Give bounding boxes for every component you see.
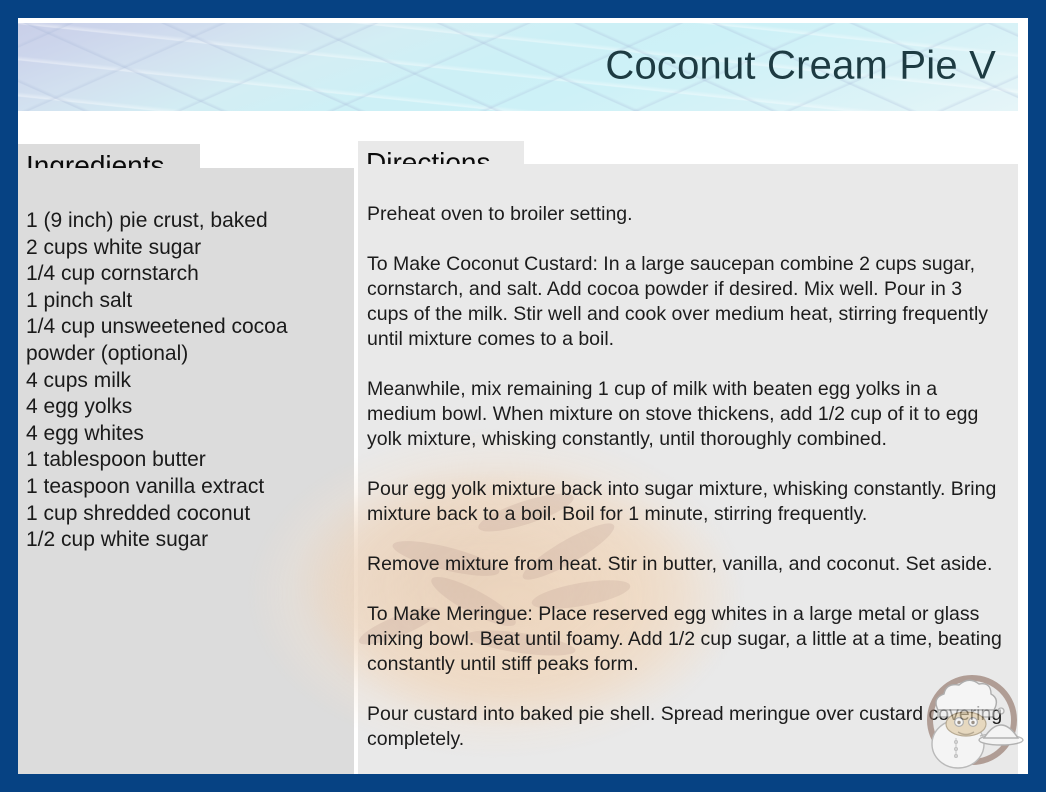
ingredient-item: 1/4 cup unsweetened cocoa powder (option… [26,314,346,367]
direction-step: Meanwhile, mix remaining 1 cup of milk w… [367,377,1007,452]
ingredient-item: 1 cup shredded coconut [26,501,346,528]
recipe-card: Coconut Cream Pie V Ingredients Directio… [0,0,1046,792]
ingredient-item: 4 cups milk [26,368,346,395]
ingredient-item: 1 tablespoon butter [26,447,346,474]
directions-panel: Preheat oven to broiler setting.To Make … [358,164,1018,774]
direction-step: To Make Coconut Custard: In a large sauc… [367,252,1007,352]
page-title: Coconut Cream Pie V [605,44,996,89]
direction-step: Pour egg yolk mixture back into sugar mi… [367,477,1007,527]
direction-step: To Make Meringue: Place reserved egg whi… [367,602,1007,677]
direction-step: Preheat oven to broiler setting. [367,202,1007,227]
direction-step: Remove mixture from heat. Stir in butter… [367,552,1007,577]
ingredients-panel: 1 (9 inch) pie crust, baked2 cups white … [18,168,354,774]
directions-text: Preheat oven to broiler setting.To Make … [367,202,1007,752]
ingredient-item: 1 teaspoon vanilla extract [26,474,346,501]
ingredient-item: 2 cups white sugar [26,235,346,262]
ingredient-item: 1/2 cup white sugar [26,527,346,554]
ingredient-item: 1 pinch salt [26,288,346,315]
ingredient-item: 4 egg yolks [26,394,346,421]
ingredient-item: 1/4 cup cornstarch [26,261,346,288]
direction-step: Pour custard into baked pie shell. Sprea… [367,702,1007,752]
title-banner: Coconut Cream Pie V [18,23,1018,111]
ingredient-item: 4 egg whites [26,421,346,448]
ingredient-item: 1 (9 inch) pie crust, baked [26,208,346,235]
ingredient-list: 1 (9 inch) pie crust, baked2 cups white … [26,208,346,554]
card-inner-area: Coconut Cream Pie V Ingredients Directio… [18,18,1028,774]
